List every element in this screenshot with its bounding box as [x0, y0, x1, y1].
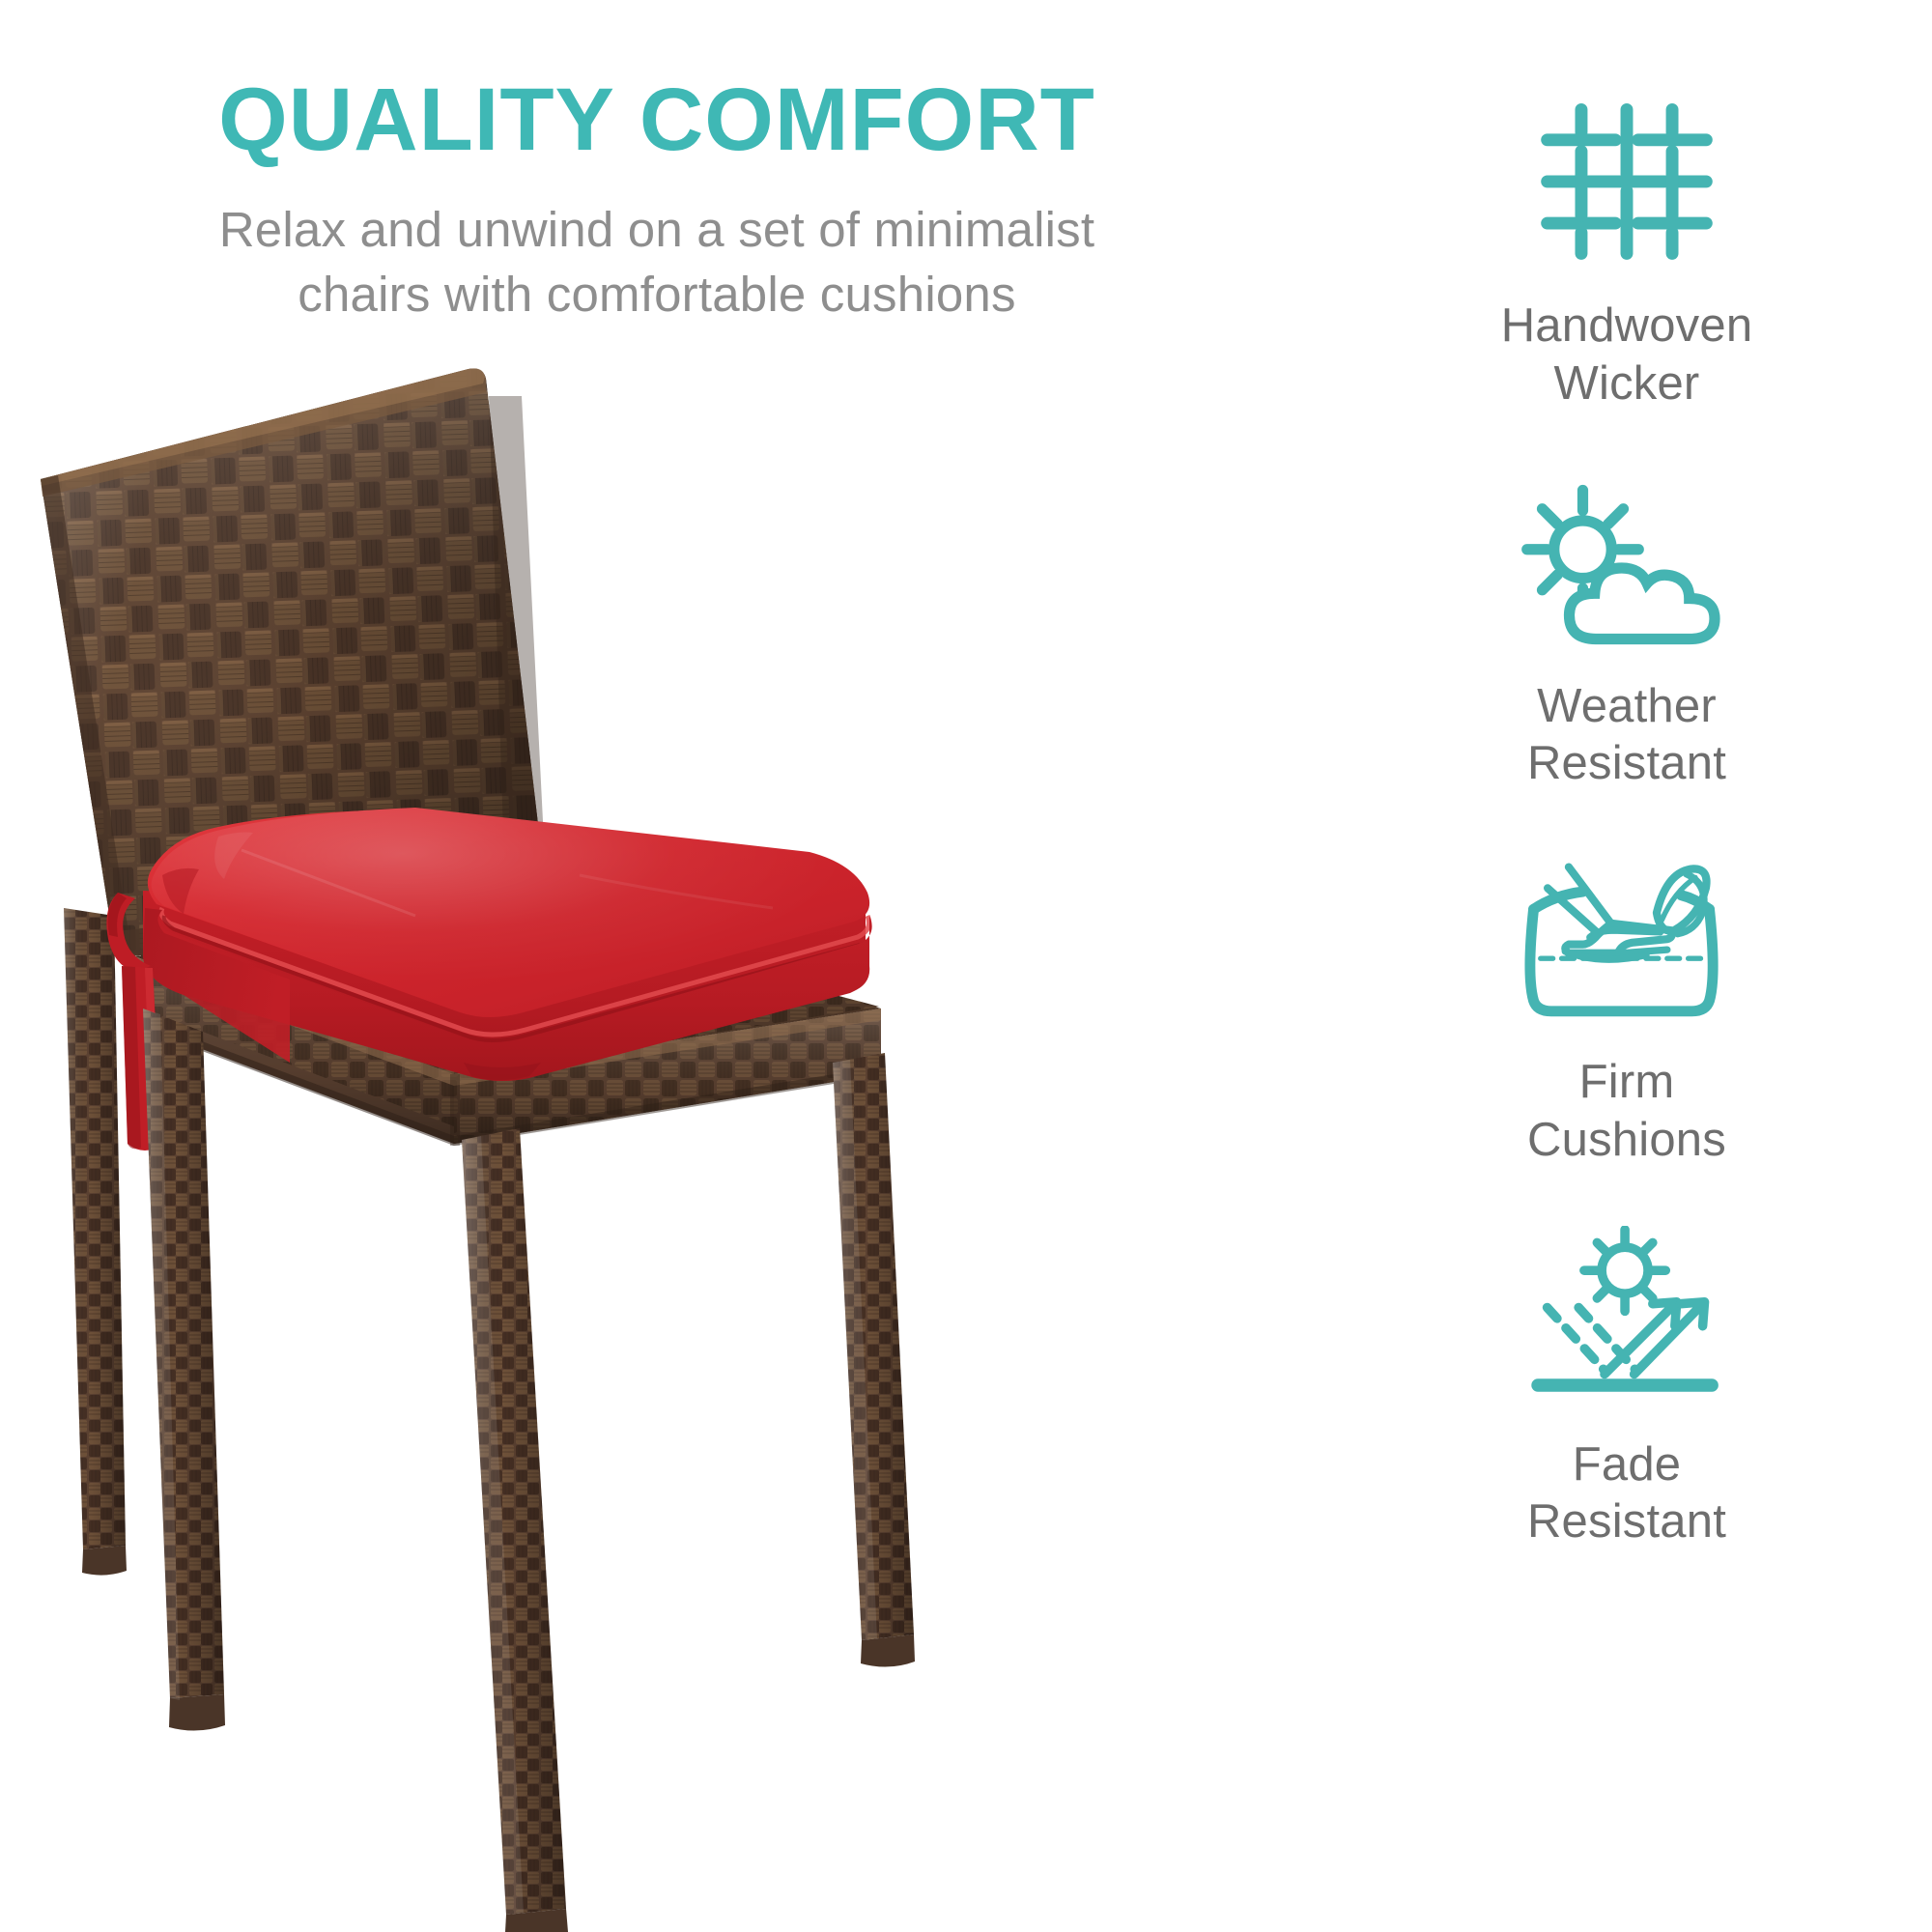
feature-firm-cushions: Firm Cushions	[1376, 853, 1878, 1170]
feature-label-line-1: Weather	[1527, 678, 1726, 736]
feature-label-fade-resistant: Fade Resistant	[1527, 1436, 1726, 1552]
feature-label-line-2: Resistant	[1527, 1493, 1726, 1551]
hand-pressing-cushion-icon	[1512, 853, 1742, 1029]
product-feature-card: QUALITY COMFORT Relax and unwind on a se…	[0, 0, 1932, 1932]
feature-handwoven-wicker: Handwoven Wicker	[1376, 83, 1878, 413]
feature-label-line-1: Handwoven	[1501, 298, 1753, 355]
woven-wicker-icon	[1532, 83, 1721, 272]
feature-label-line-1: Firm	[1527, 1054, 1726, 1112]
sun-cloud-icon	[1519, 483, 1735, 653]
wicker-chair-illustration	[0, 290, 1314, 1932]
sun-reflect-arrows-icon	[1516, 1226, 1738, 1411]
feature-label-line-2: Wicker	[1501, 355, 1753, 413]
front-right-leg	[462, 1128, 568, 1932]
feature-label-firm-cushions: Firm Cushions	[1527, 1054, 1726, 1170]
rear-left-leg	[64, 908, 127, 1576]
feature-label-line-2: Cushions	[1527, 1112, 1726, 1170]
product-image	[0, 290, 1314, 1932]
feature-label-handwoven-wicker: Handwoven Wicker	[1501, 298, 1753, 413]
front-left-leg	[143, 1009, 225, 1731]
feature-label-line-1: Fade	[1527, 1436, 1726, 1494]
page-title: QUALITY COMFORT	[0, 75, 1314, 166]
rear-right-leg	[833, 1053, 915, 1667]
feature-label-line-2: Resistant	[1527, 735, 1726, 793]
feature-fade-resistant: Fade Resistant	[1376, 1226, 1878, 1552]
subtitle-line-1: Relax and unwind on a set of minimalist	[0, 197, 1314, 262]
feature-label-weather-resistant: Weather Resistant	[1527, 678, 1726, 794]
feature-weather-resistant: Weather Resistant	[1376, 483, 1878, 794]
feature-list: Handwoven Wicker	[1376, 77, 1878, 1551]
